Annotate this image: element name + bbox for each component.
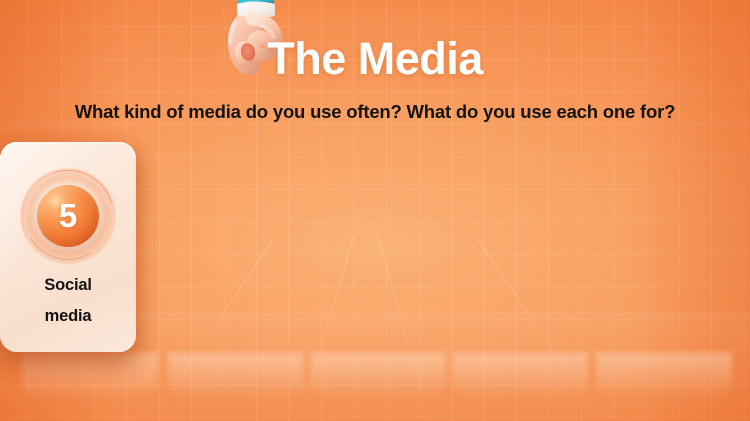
slide-canvas: The Media What kind of media do you use … <box>0 0 750 421</box>
page-subtitle: What kind of media do you use often? Wha… <box>0 101 750 123</box>
badge-sphere: 5 <box>37 185 99 247</box>
number-badge-5: 5 <box>20 168 116 264</box>
media-card-5[interactable]: 5 Social media <box>0 142 136 352</box>
label-line: Social <box>4 270 132 301</box>
media-card-label-5: Social media <box>0 270 136 331</box>
label-line: media <box>4 301 132 332</box>
badge-number: 5 <box>59 199 77 232</box>
media-card-list: 1 Newspapers magazines 2 Microblog <box>0 142 750 354</box>
page-title: The Media <box>0 36 750 81</box>
